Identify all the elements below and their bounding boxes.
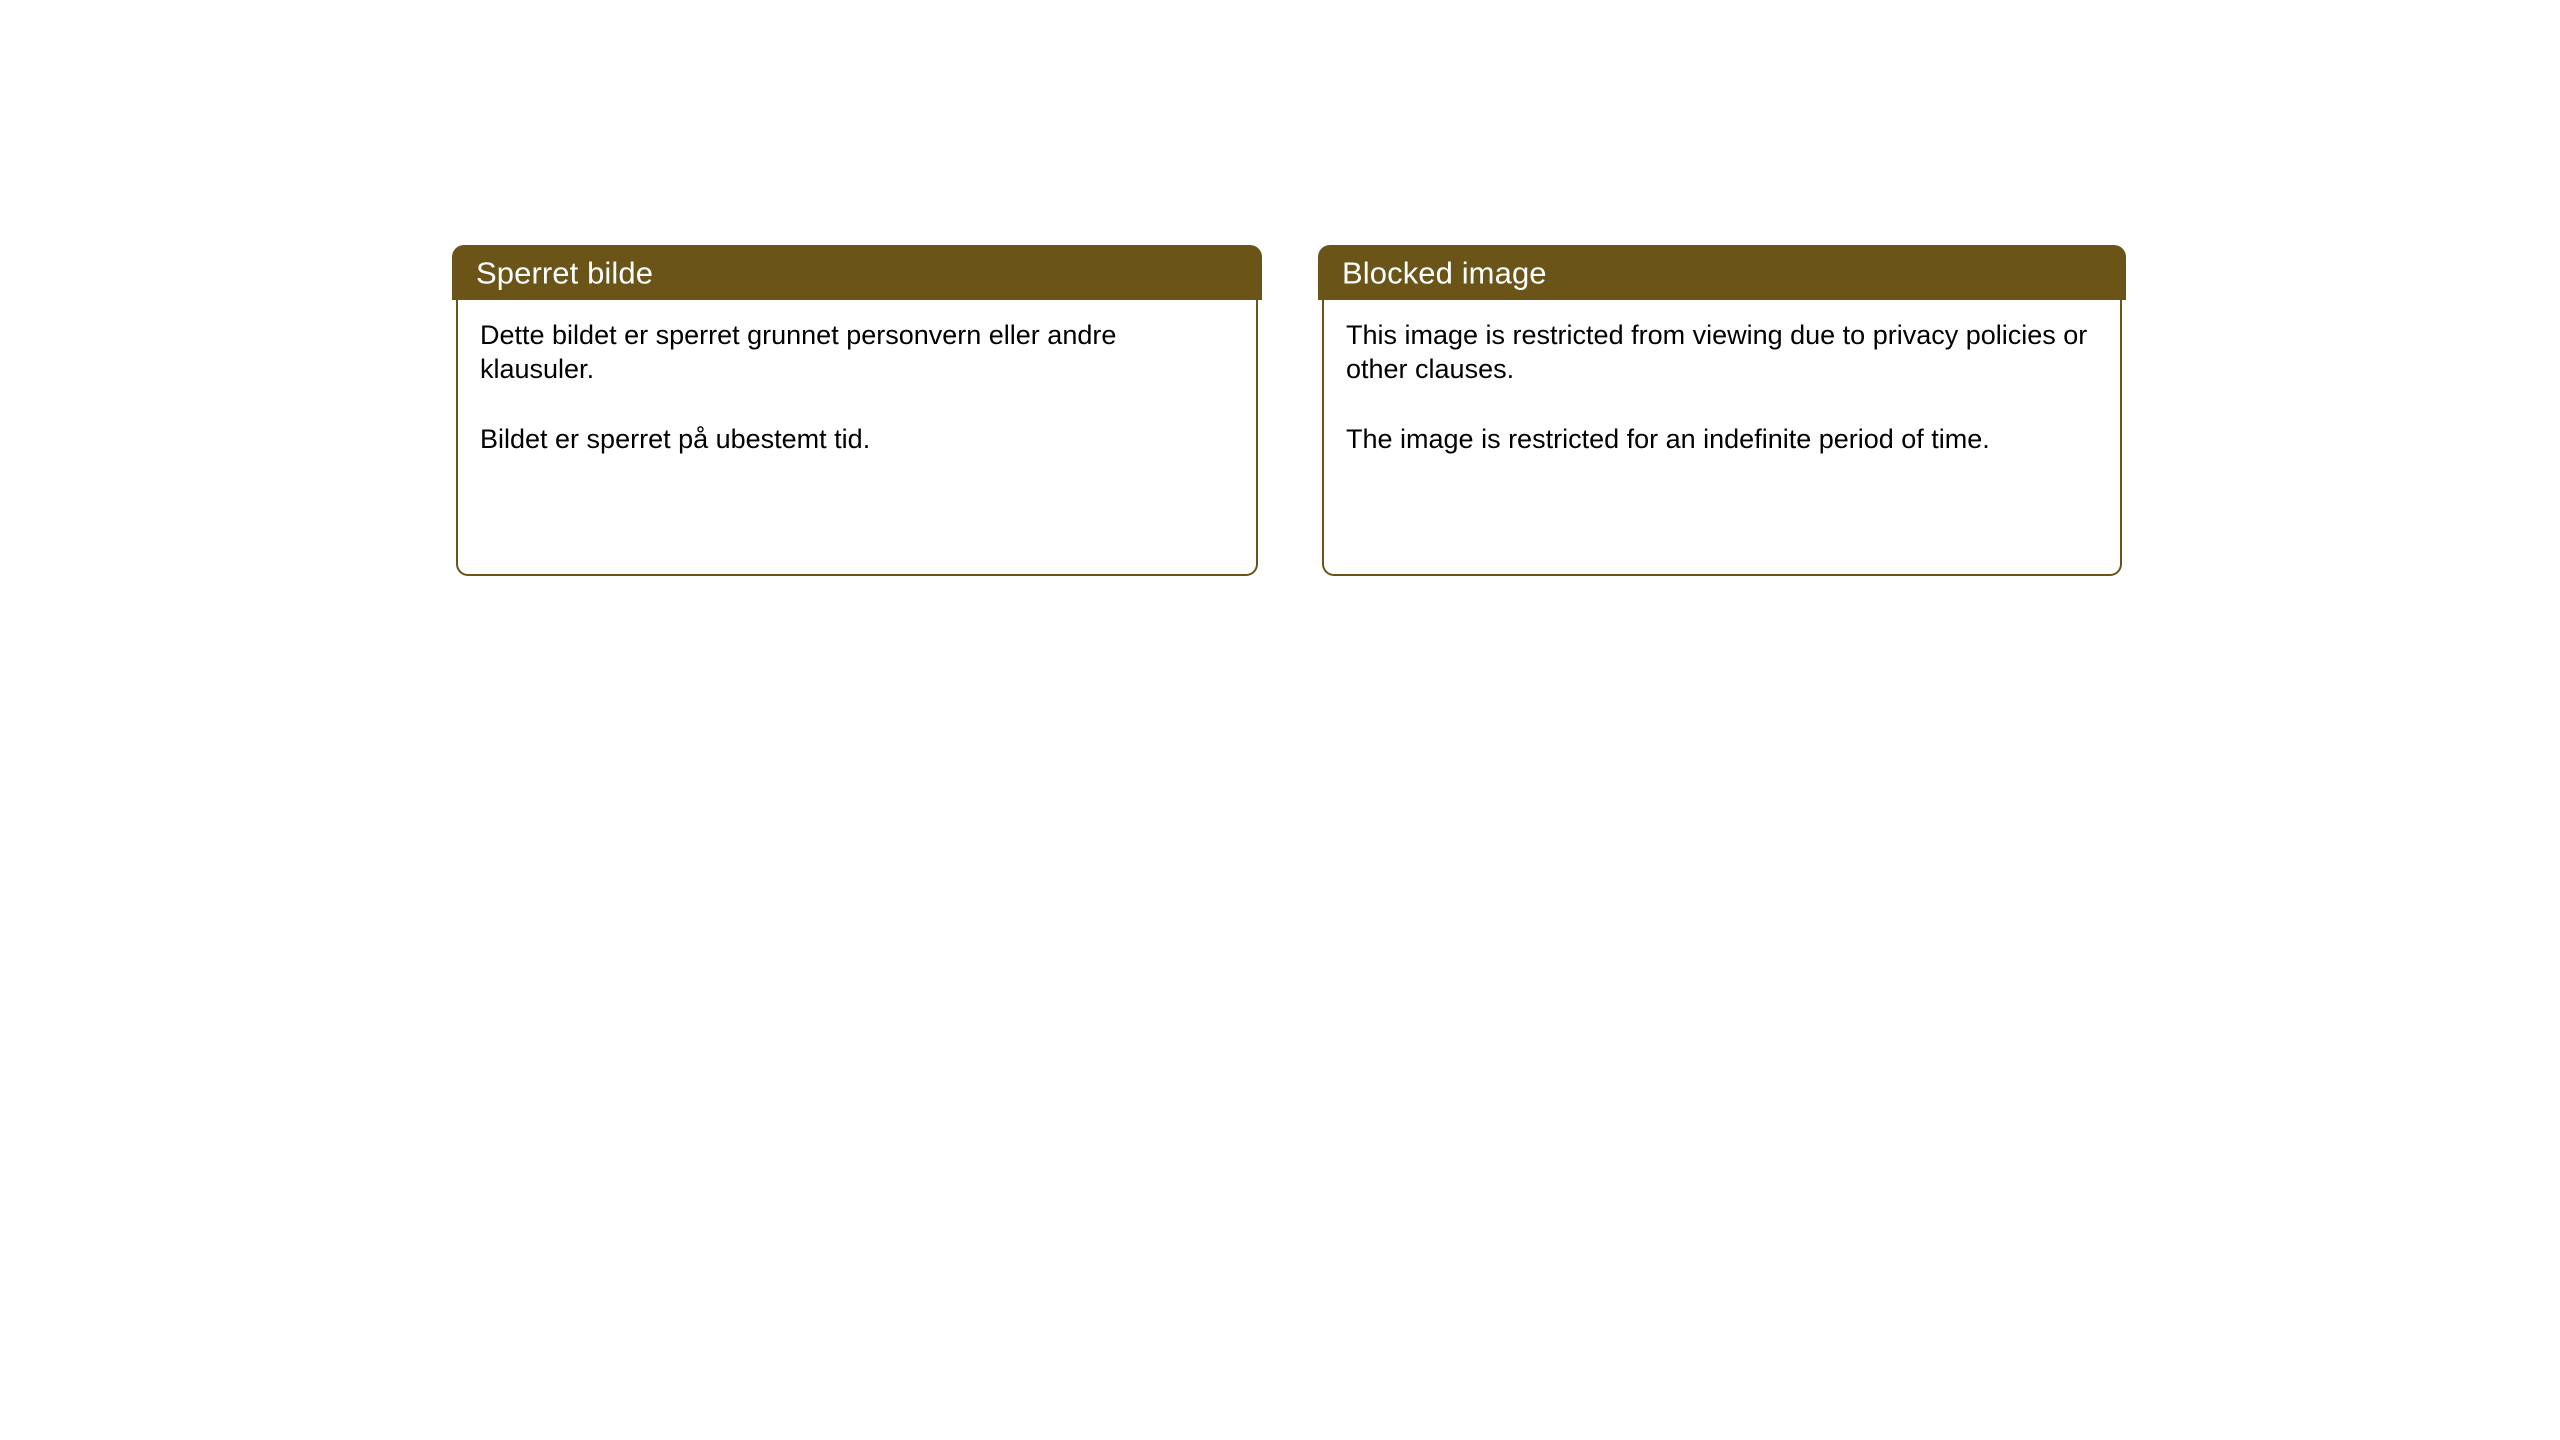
notice-paragraph-duration-english: The image is restricted for an indefinit…	[1346, 422, 2098, 456]
notice-title-norwegian: Sperret bilde	[476, 257, 653, 288]
notice-paragraph-reason-norwegian: Dette bildet er sperret grunnet personve…	[480, 318, 1234, 387]
notice-paragraph-duration-norwegian: Bildet er sperret på ubestemt tid.	[480, 422, 1234, 456]
blocked-image-notice-norwegian: Sperret bilde Dette bildet er sperret gr…	[452, 245, 1262, 576]
notice-body-norwegian: Dette bildet er sperret grunnet personve…	[456, 300, 1258, 576]
notice-paragraph-reason-english: This image is restricted from viewing du…	[1346, 318, 2098, 387]
blocked-image-notice-english: Blocked image This image is restricted f…	[1318, 245, 2126, 576]
notice-header-bar-norwegian: Sperret bilde	[452, 245, 1262, 300]
notice-header-bar-english: Blocked image	[1318, 245, 2126, 300]
notice-title-english: Blocked image	[1342, 257, 1547, 288]
notice-body-english: This image is restricted from viewing du…	[1322, 300, 2122, 576]
